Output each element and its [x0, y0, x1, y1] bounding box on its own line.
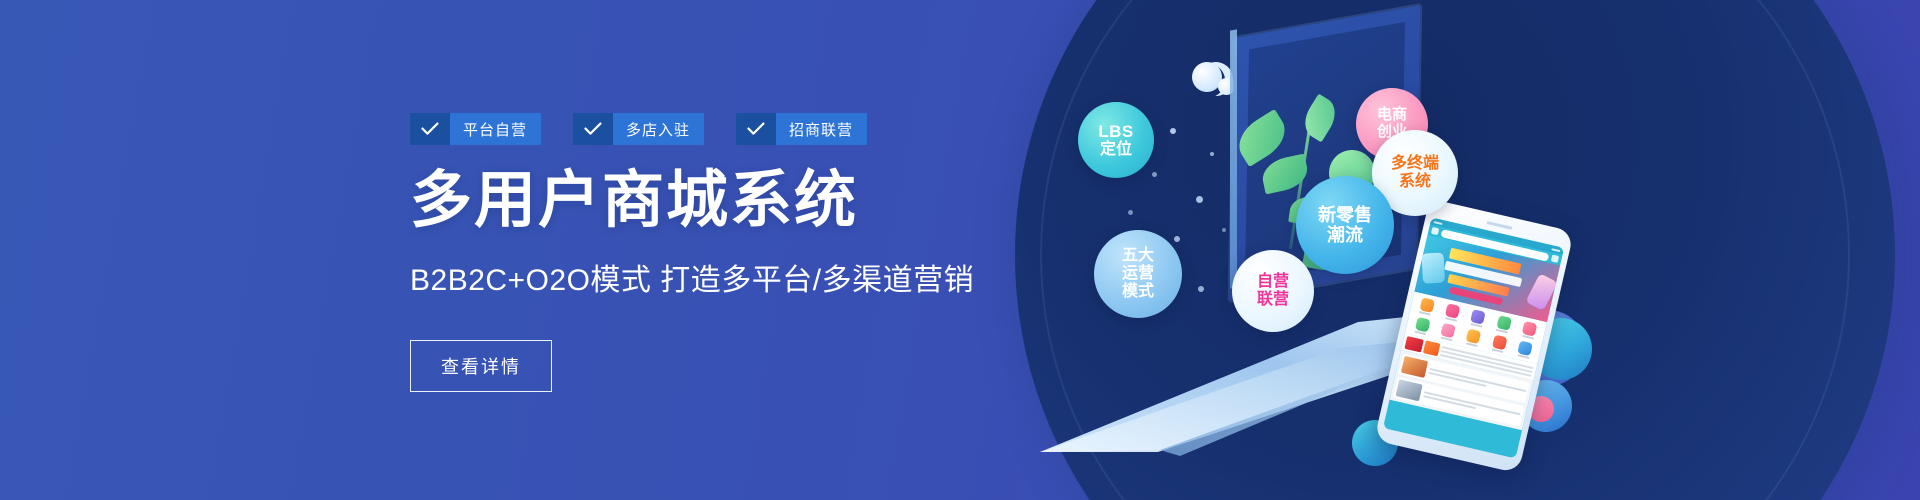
phone-screen: [1383, 217, 1564, 458]
bubble-line: 电商: [1377, 107, 1407, 124]
check-icon: [410, 113, 450, 145]
leaf-shape: [1230, 109, 1293, 167]
hero-decor-left: [1421, 253, 1445, 284]
star-dot: [1170, 128, 1176, 134]
bubble-line: 五大: [1122, 247, 1154, 265]
leaf-shape: [1259, 154, 1311, 195]
phone-menu-icon: [1431, 227, 1439, 235]
star-dot: [1152, 172, 1157, 177]
promo-banner: LBS 定位 电商 创业 多终端 系统 新零售 潮流 五大 运营 模式 自营 联…: [0, 0, 1920, 500]
category-item: [1490, 314, 1517, 335]
view-details-button[interactable]: 查看详情: [410, 340, 552, 392]
category-item: [1516, 320, 1543, 341]
star-dot: [1222, 228, 1226, 232]
star-dot: [1258, 120, 1263, 125]
bubble-line: 新零售: [1318, 205, 1372, 225]
category-item: [1486, 333, 1513, 354]
star-dot: [1174, 236, 1180, 242]
smartphone-mockup: [1374, 199, 1574, 474]
feature-tag-label: 招商联营: [776, 113, 867, 145]
bubble-line: 系统: [1399, 173, 1431, 191]
category-item: [1464, 308, 1491, 329]
category-item: [1434, 321, 1461, 342]
feature-tag-multi-store[interactable]: 多店入驻: [573, 113, 704, 145]
decor-sphere-pink: [1325, 78, 1351, 104]
decor-sphere-pale: [1192, 62, 1222, 92]
category-item: [1408, 316, 1435, 337]
crescent-icon: [1195, 58, 1238, 101]
feature-tag-list: 平台自营 多店入驻 招商联营: [410, 113, 867, 145]
category-item: [1511, 339, 1538, 360]
star-dot: [1310, 60, 1314, 64]
feature-tag-platform-self-operated[interactable]: 平台自营: [410, 113, 541, 145]
bubble-line: 自营: [1257, 273, 1289, 291]
category-item: [1460, 327, 1487, 348]
laptop-screen-edge: [1230, 29, 1237, 288]
bubble-new-retail: 新零售 潮流: [1296, 176, 1394, 274]
star-dot: [1238, 178, 1242, 182]
promo-tile: [1404, 336, 1423, 352]
feature-tag-merchant-alliance[interactable]: 招商联营: [736, 113, 867, 145]
feature-tag-label: 多店入驻: [613, 113, 704, 145]
banner-content: 平台自营 多店入驻 招商联营 多用户商城系统 B2: [410, 0, 1110, 500]
category-item: [1413, 296, 1440, 317]
feature-tag-label: 平台自营: [450, 113, 541, 145]
bubble-line: 多终端: [1391, 155, 1439, 173]
leaf-shape: [1298, 94, 1343, 143]
bubble-self-joint-operation: 自营 联营: [1232, 250, 1314, 332]
banner-subtitle: B2B2C+O2O模式 打造多平台/多渠道营销: [410, 262, 974, 300]
bubble-line: 联营: [1257, 291, 1289, 309]
star-dot: [1198, 286, 1204, 292]
promo-tile: [1423, 340, 1441, 356]
check-icon: [573, 113, 613, 145]
check-icon: [736, 113, 776, 145]
category-item: [1439, 302, 1466, 323]
bubble-line: 潮流: [1327, 225, 1363, 245]
star-dot: [1210, 152, 1214, 156]
page-title: 多用户商城系统: [410, 170, 858, 232]
star-dot: [1128, 210, 1133, 215]
decor-sphere-pale-small: [1218, 78, 1235, 95]
bubble-line: 运营: [1122, 265, 1154, 283]
phone-user-icon: [1551, 255, 1559, 263]
bubble-line: 模式: [1122, 283, 1154, 301]
star-dot: [1196, 196, 1203, 203]
